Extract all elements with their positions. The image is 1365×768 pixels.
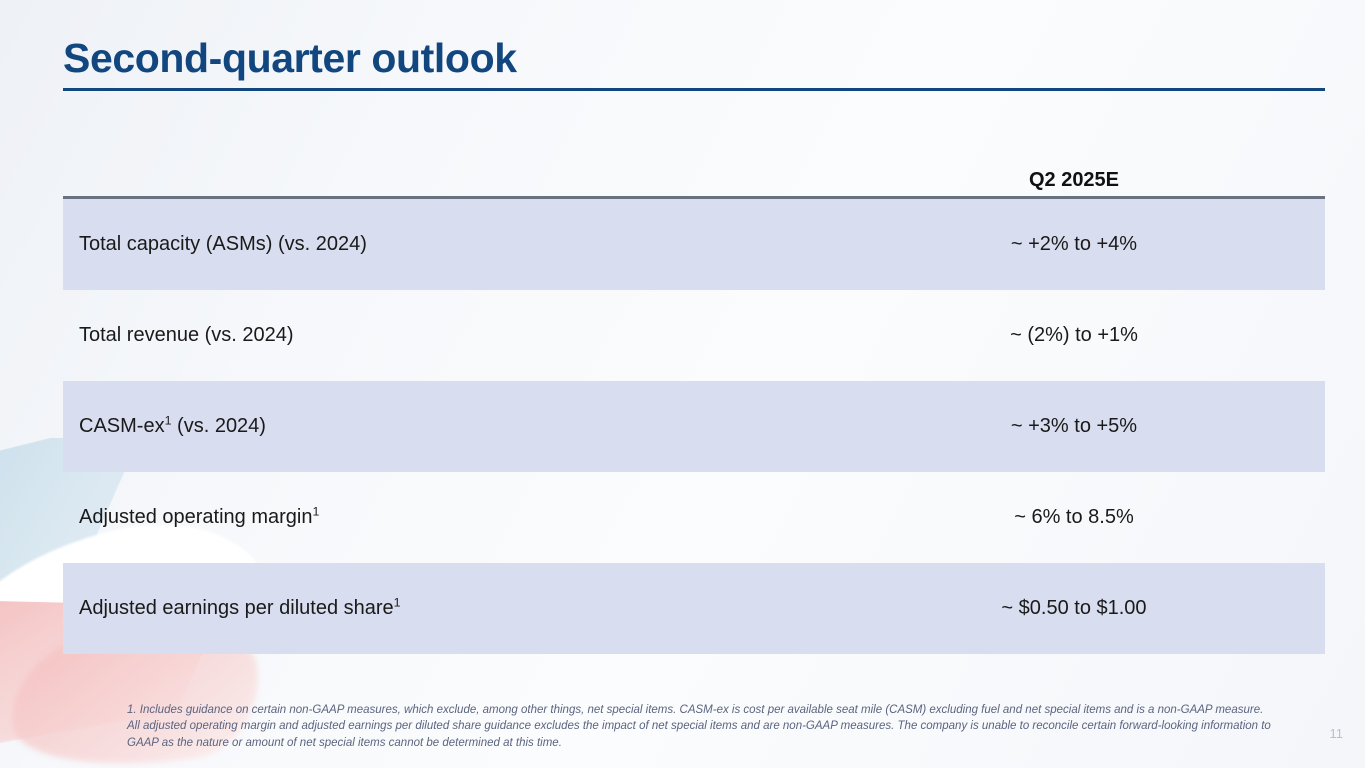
- slide: Second-quarter outlook Q2 2025E Total ca…: [0, 0, 1365, 768]
- row-metric-label: Adjusted earnings per diluted share1: [63, 597, 823, 620]
- row-value: ~ (2%) to +1%: [823, 324, 1325, 347]
- row-metric-text: Adjusted operating margin: [79, 506, 312, 528]
- row-value: ~ $0.50 to $1.00: [823, 597, 1325, 620]
- row-metric-text: Adjusted earnings per diluted share: [79, 597, 394, 619]
- row-metric-text: Total capacity (ASMs) (vs. 2024): [79, 233, 367, 255]
- table-row: CASM-ex1 (vs. 2024) ~ +3% to +5%: [63, 381, 1325, 472]
- table-row: Total revenue (vs. 2024) ~ (2%) to +1%: [63, 290, 1325, 381]
- row-value: ~ +2% to +4%: [823, 233, 1325, 256]
- row-metric-label: Adjusted operating margin1: [63, 506, 823, 529]
- outlook-table: Q2 2025E Total capacity (ASMs) (vs. 2024…: [63, 134, 1325, 654]
- row-metric-text: Total revenue (vs. 2024): [79, 324, 294, 346]
- row-value: ~ 6% to 8.5%: [823, 506, 1325, 529]
- table-row: Adjusted operating margin1 ~ 6% to 8.5%: [63, 472, 1325, 563]
- row-metric-label: Total revenue (vs. 2024): [63, 324, 823, 347]
- footnote-marker: 1: [394, 595, 401, 609]
- page-title: Second-quarter outlook: [63, 36, 1325, 80]
- row-value: ~ +3% to +5%: [823, 415, 1325, 438]
- table-header-row: Q2 2025E: [63, 134, 1325, 196]
- page-number: 11: [1330, 726, 1344, 741]
- footnote-text: 1. Includes guidance on certain non-GAAP…: [127, 702, 1272, 751]
- row-metric-text: CASM-ex: [79, 415, 165, 437]
- title-underline-rule: [63, 88, 1325, 91]
- footnote-marker: 1: [312, 504, 319, 518]
- row-metric-label: Total capacity (ASMs) (vs. 2024): [63, 233, 823, 256]
- title-block: Second-quarter outlook: [63, 36, 1325, 91]
- row-metric-label: CASM-ex1 (vs. 2024): [63, 415, 823, 438]
- table-row: Total capacity (ASMs) (vs. 2024) ~ +2% t…: [63, 199, 1325, 290]
- row-metric-tail: (vs. 2024): [171, 415, 265, 437]
- table-row: Adjusted earnings per diluted share1 ~ $…: [63, 563, 1325, 654]
- table-header-value: Q2 2025E: [823, 169, 1325, 196]
